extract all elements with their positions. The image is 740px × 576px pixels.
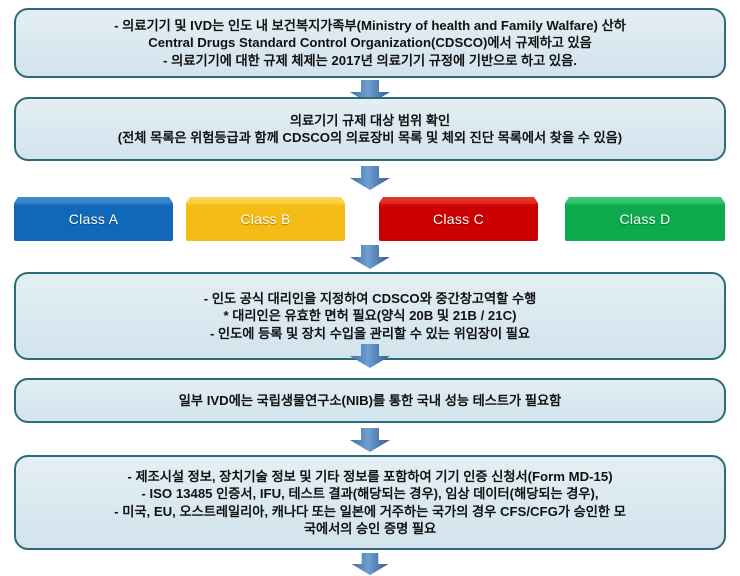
step-box-regulator-overview: - 의료기기 및 IVD는 인도 내 보건복지가족부(Ministry of h… <box>14 8 726 78</box>
device-class-b[interactable]: Class B <box>186 197 345 241</box>
class-a-label: Class A <box>69 211 119 227</box>
class-b-label: Class B <box>240 211 290 227</box>
step-text-scope-check: 의료기기 규제 대상 범위 확인 (전체 목록은 위험등급과 함께 CDSCO의… <box>26 112 714 147</box>
arrow-dossier-to-next <box>349 553 391 576</box>
class-c-label: Class C <box>433 211 484 227</box>
class-d-plate-bevel <box>565 197 725 204</box>
arrow-nib-to-dossier <box>349 428 391 453</box>
step-box-application-dossier: - 제조시설 정보, 장치기술 정보 및 기타 정보를 포함하여 기기 인증 신… <box>14 455 726 550</box>
class-c-plate-bevel <box>379 197 538 204</box>
step-text-application-dossier: - 제조시설 정보, 장치기술 정보 및 기타 정보를 포함하여 기기 인증 신… <box>26 468 714 538</box>
arrow-agent-to-nib <box>349 344 391 369</box>
step-box-scope-check: 의료기기 규제 대상 범위 확인 (전체 목록은 위험등급과 함께 CDSCO의… <box>14 97 726 161</box>
step-text-nib-testing: 일부 IVD에는 국립생물연구소(NIB)를 통한 국내 성능 테스트가 필요함 <box>26 392 714 409</box>
flowchart-canvas: - 의료기기 및 IVD는 인도 내 보건복지가족부(Ministry of h… <box>0 0 740 576</box>
class-a-plate-bevel <box>14 197 173 204</box>
device-class-c[interactable]: Class C <box>379 197 538 241</box>
device-class-d[interactable]: Class D <box>565 197 725 241</box>
arrow-scope-to-classes <box>349 166 391 191</box>
class-b-plate-bevel <box>186 197 345 204</box>
step-text-authorized-agent: - 인도 공식 대리인을 지정하여 CDSCO와 중간창고역할 수행 * 대리인… <box>26 290 714 342</box>
device-class-a[interactable]: Class A <box>14 197 173 241</box>
arrow-classes-to-agent <box>349 245 391 270</box>
step-text-regulator-overview: - 의료기기 및 IVD는 인도 내 보건복지가족부(Ministry of h… <box>26 17 714 69</box>
step-box-nib-testing: 일부 IVD에는 국립생물연구소(NIB)를 통한 국내 성능 테스트가 필요함 <box>14 378 726 423</box>
class-d-label: Class D <box>619 211 670 227</box>
